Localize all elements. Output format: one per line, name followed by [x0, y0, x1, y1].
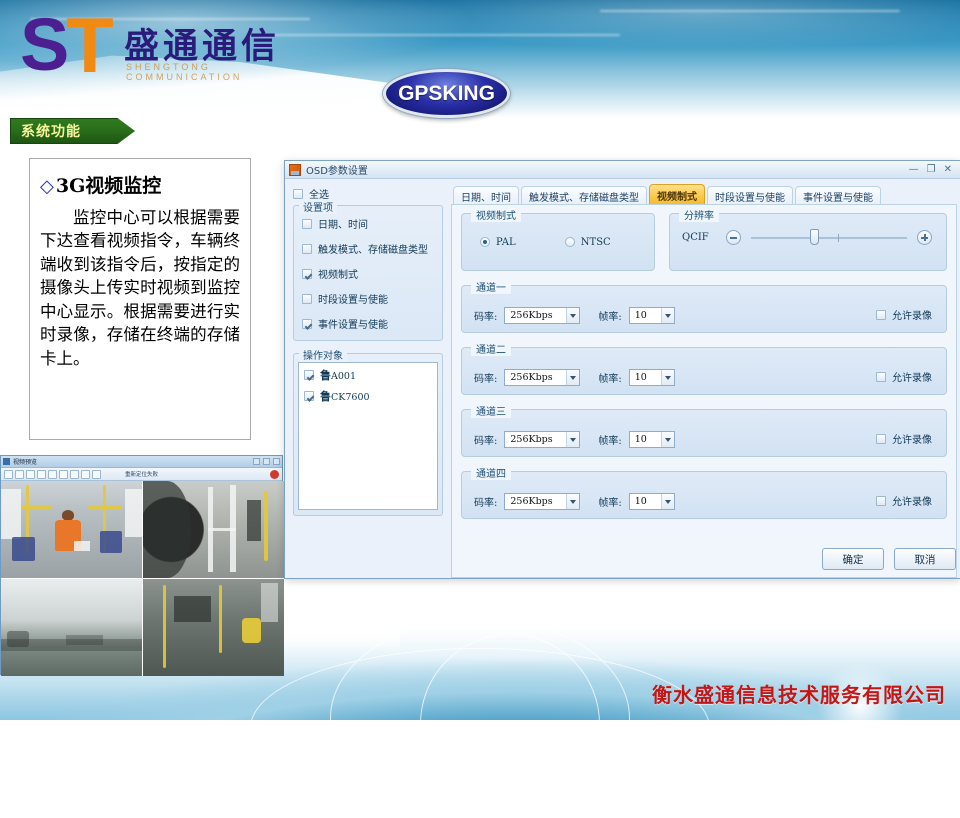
chevron-down-icon[interactable] — [661, 432, 674, 447]
resolution-group-title: 分辨率 — [679, 207, 719, 222]
channel-row-3: 通道三 码率: 256Kbps 帧率: 10 允许录像 — [461, 409, 947, 457]
toolbar-button-play[interactable] — [26, 470, 35, 479]
channel-row-1: 通道一 码率: 256Kbps 帧率: 10 允许录像 — [461, 285, 947, 333]
sidebar-item-trigger-storage[interactable]: 触发模式、存储磁盘类型 — [302, 241, 436, 256]
tab-bar[interactable]: 日期、时间 触发模式、存储磁盘类型 视频制式 时段设置与使能 事件设置与使能 — [451, 184, 957, 205]
chevron-down-icon[interactable] — [661, 308, 674, 323]
cancel-button[interactable]: 取消 — [894, 548, 956, 570]
checkbox-icon[interactable] — [876, 310, 886, 320]
chevron-down-icon[interactable] — [566, 432, 579, 447]
settings-group-title: 设置项 — [299, 199, 337, 214]
radio-icon[interactable] — [480, 237, 490, 247]
toolbar-button-zoom[interactable] — [92, 470, 101, 479]
close-icon[interactable] — [273, 458, 280, 465]
allow-record-checkbox[interactable]: 允许录像 — [876, 493, 932, 508]
radio-ntsc-label: NTSC — [581, 237, 611, 248]
list-item[interactable]: 鲁CK7600 — [304, 388, 432, 404]
bitrate-value: 256Kbps — [510, 496, 552, 507]
maximize-icon[interactable] — [263, 458, 270, 465]
resolution-value: QCIF — [682, 232, 716, 243]
radio-pal[interactable]: PAL — [480, 237, 516, 248]
checkbox-icon[interactable] — [304, 391, 314, 401]
close-icon[interactable]: ✕ — [944, 165, 952, 175]
chevron-down-icon[interactable] — [661, 494, 674, 509]
bitrate-label: 码率: — [474, 308, 497, 323]
ok-button[interactable]: 确定 — [822, 548, 884, 570]
video-window-controls[interactable] — [253, 458, 280, 465]
framerate-label: 帧率: — [598, 308, 621, 323]
plus-icon[interactable] — [917, 230, 932, 245]
minimize-icon[interactable] — [253, 458, 260, 465]
checkbox-icon[interactable] — [876, 372, 886, 382]
toolbar-button-back[interactable] — [4, 470, 13, 479]
osd-settings-dialog[interactable]: OSD参数设置 — ❐ ✕ 全选 设置项 日期、时间 触发模式、存储磁盘 — [284, 160, 960, 579]
dialog-main-area: 日期、时间 触发模式、存储磁盘类型 视频制式 时段设置与使能 事件设置与使能 视… — [447, 184, 957, 576]
bitrate-value: 256Kbps — [510, 372, 552, 383]
slider-tick — [838, 234, 839, 242]
video-feed-cell[interactable] — [143, 481, 284, 578]
bitrate-select[interactable]: 256Kbps — [504, 493, 580, 510]
target-vehicle-list[interactable]: 鲁A001 鲁CK7600 — [298, 362, 438, 510]
maximize-icon[interactable]: ❐ — [927, 165, 936, 175]
chevron-down-icon[interactable] — [566, 370, 579, 385]
allow-record-label: 允许录像 — [892, 369, 932, 384]
sidebar-item-date-time[interactable]: 日期、时间 — [302, 216, 436, 231]
checkbox-icon[interactable] — [304, 370, 314, 380]
channel-title: 通道四 — [471, 465, 511, 480]
channel-row-4: 通道四 码率: 256Kbps 帧率: 10 允许录像 — [461, 471, 947, 519]
video-format-group: 视频制式 PAL NTSC — [461, 213, 655, 271]
bitrate-value: 256Kbps — [510, 310, 552, 321]
dialog-button-row: 确定 取消 — [822, 548, 956, 570]
framerate-value: 10 — [635, 372, 647, 383]
brand-logo: S T 盛通通信 SHENGTONG COMMUNICATION — [14, 10, 314, 80]
channel-row-2: 通道二 码率: 256Kbps 帧率: 10 允许录像 — [461, 347, 947, 395]
dialog-body: 全选 设置项 日期、时间 触发模式、存储磁盘类型 视频制式 — [285, 180, 960, 580]
framerate-select[interactable]: 10 — [629, 493, 675, 510]
video-window-title: 视频预览 — [13, 457, 37, 466]
settings-items-group: 设置项 日期、时间 触发模式、存储磁盘类型 视频制式 时段设置与使能 — [293, 205, 443, 341]
toolbar-button-pause[interactable] — [37, 470, 46, 479]
bitrate-select[interactable]: 256Kbps — [504, 369, 580, 386]
resolution-slider-row[interactable]: QCIF — [682, 230, 932, 245]
sidebar-item-label: 时段设置与使能 — [318, 291, 388, 306]
checkbox-icon[interactable] — [302, 219, 312, 229]
bitrate-label: 码率: — [474, 370, 497, 385]
toolbar-button-layout-4[interactable] — [81, 470, 90, 479]
footer-company-name: 衡水盛通信息技术服务有限公司 — [652, 679, 946, 708]
framerate-label: 帧率: — [598, 432, 621, 447]
checkbox-icon[interactable] — [302, 294, 312, 304]
sidebar-item-label: 日期、时间 — [318, 216, 368, 231]
allow-record-label: 允许录像 — [892, 493, 932, 508]
checkbox-icon[interactable] — [302, 319, 312, 329]
top-settings-row: 视频制式 PAL NTSC 分辨率 QCIF — [461, 213, 947, 271]
toolbar-button-stop[interactable] — [48, 470, 57, 479]
cloud-streak — [260, 34, 620, 36]
chevron-down-icon[interactable] — [566, 494, 579, 509]
list-item[interactable]: 鲁A001 — [304, 367, 432, 383]
resolution-group: 分辨率 QCIF — [669, 213, 947, 271]
osd-app-icon — [289, 164, 301, 176]
video-app-icon — [3, 458, 10, 465]
section-banner-label: 系统功能 — [21, 121, 81, 141]
allow-record-checkbox[interactable]: 允许录像 — [876, 431, 932, 446]
record-indicator-icon — [270, 470, 279, 479]
framerate-label: 帧率: — [598, 494, 621, 509]
allow-record-checkbox[interactable]: 允许录像 — [876, 307, 932, 322]
gpsking-badge-text: GPSKING — [398, 82, 495, 106]
video-window-titlebar: 视频预览 — [1, 456, 282, 468]
video-format-group-title: 视频制式 — [471, 207, 521, 222]
tab-trigger-storage[interactable]: 触发模式、存储磁盘类型 — [521, 186, 647, 205]
dialog-title: OSD参数设置 — [306, 162, 368, 177]
gpsking-badge: GPSKING — [383, 69, 510, 118]
video-feed-cell[interactable] — [1, 481, 142, 578]
tab-date-time[interactable]: 日期、时间 — [453, 186, 519, 205]
tab-event-settings[interactable]: 事件设置与使能 — [795, 186, 881, 205]
framerate-value: 10 — [635, 496, 647, 507]
framerate-value: 10 — [635, 434, 647, 445]
feature-card-title: ◇3G视频监控 — [40, 171, 240, 198]
framerate-value: 10 — [635, 310, 647, 321]
video-preview-window[interactable]: 视频预览 重新定位失败 — [0, 455, 283, 675]
logo-company-en: SHENGTONG COMMUNICATION — [126, 62, 314, 82]
radio-ntsc[interactable]: NTSC — [565, 237, 611, 248]
section-banner: 系统功能 — [10, 118, 135, 144]
logo-letter-s: S — [20, 2, 66, 87]
feature-card-body: 监控中心可以根据需要下达查看视频指令，车辆终端收到该指令后，按指定的摄像头上传实… — [40, 206, 240, 370]
feature-card: ◇3G视频监控 监控中心可以根据需要下达查看视频指令，车辆终端收到该指令后，按指… — [29, 158, 251, 440]
channel-title: 通道三 — [471, 403, 511, 418]
minus-icon[interactable] — [726, 230, 741, 245]
checkbox-icon[interactable] — [302, 244, 312, 254]
cloud-streak — [600, 10, 900, 12]
toolbar-button-forward[interactable] — [15, 470, 24, 479]
feature-card-title-text: 3G视频监控 — [56, 175, 161, 197]
sidebar-item-schedule[interactable]: 时段设置与使能 — [302, 291, 436, 306]
radio-icon[interactable] — [565, 237, 575, 247]
framerate-select[interactable]: 10 — [629, 431, 675, 448]
checkbox-icon[interactable] — [302, 269, 312, 279]
toolbar-button-snapshot[interactable] — [59, 470, 68, 479]
checkbox-icon[interactable] — [876, 496, 886, 506]
video-feed-grid — [1, 481, 284, 676]
framerate-select[interactable]: 10 — [629, 307, 675, 324]
bitrate-label: 码率: — [474, 494, 497, 509]
tab-panel-video-format: 视频制式 PAL NTSC 分辨率 QCIF — [451, 204, 957, 578]
bitrate-select[interactable]: 256Kbps — [504, 431, 580, 448]
bitrate-label: 码率: — [474, 432, 497, 447]
tab-schedule[interactable]: 时段设置与使能 — [707, 186, 793, 205]
video-window-toolbar[interactable]: 重新定位失败 — [1, 468, 282, 481]
bitrate-select[interactable]: 256Kbps — [504, 307, 580, 324]
resolution-slider[interactable] — [751, 237, 907, 239]
allow-record-label: 允许录像 — [892, 431, 932, 446]
targets-group-title: 操作对象 — [299, 347, 347, 362]
allow-record-label: 允许录像 — [892, 307, 932, 322]
video-feed-cell[interactable] — [1, 579, 142, 676]
toolbar-button-layout-1[interactable] — [70, 470, 79, 479]
vehicle-plate: 鲁A001 — [320, 367, 356, 383]
checkbox-icon[interactable] — [293, 189, 303, 199]
video-feed-cell[interactable] — [143, 579, 284, 676]
diamond-icon: ◇ — [40, 176, 54, 197]
tab-video-format[interactable]: 视频制式 — [649, 184, 705, 205]
sidebar-item-video-format[interactable]: 视频制式 — [302, 266, 436, 281]
framerate-select[interactable]: 10 — [629, 369, 675, 386]
sidebar-item-event-settings[interactable]: 事件设置与使能 — [302, 316, 436, 331]
radio-pal-label: PAL — [496, 237, 516, 248]
chevron-down-icon[interactable] — [566, 308, 579, 323]
dialog-sidebar: 全选 设置项 日期、时间 触发模式、存储磁盘类型 视频制式 — [289, 184, 447, 576]
checkbox-icon[interactable] — [876, 434, 886, 444]
video-toolbar-status: 重新定位失败 — [125, 470, 158, 478]
dialog-titlebar: OSD参数设置 — ❐ ✕ — [285, 161, 960, 179]
slider-thumb[interactable] — [810, 229, 819, 245]
chevron-down-icon[interactable] — [661, 370, 674, 385]
allow-record-checkbox[interactable]: 允许录像 — [876, 369, 932, 384]
vehicle-plate: 鲁CK7600 — [320, 388, 370, 404]
sidebar-item-label: 视频制式 — [318, 266, 358, 281]
sidebar-item-label: 事件设置与使能 — [318, 316, 388, 331]
sidebar-item-label: 触发模式、存储磁盘类型 — [318, 241, 428, 256]
framerate-label: 帧率: — [598, 370, 621, 385]
targets-group: 操作对象 鲁A001 鲁CK7600 — [293, 353, 443, 516]
logo-letter-t: T — [66, 0, 111, 91]
channel-title: 通道一 — [471, 279, 511, 294]
minimize-icon[interactable]: — — [909, 165, 919, 175]
dialog-window-controls[interactable]: — ❐ ✕ — [909, 165, 956, 175]
globe-arc — [250, 648, 710, 808]
bitrate-value: 256Kbps — [510, 434, 552, 445]
channel-title: 通道二 — [471, 341, 511, 356]
